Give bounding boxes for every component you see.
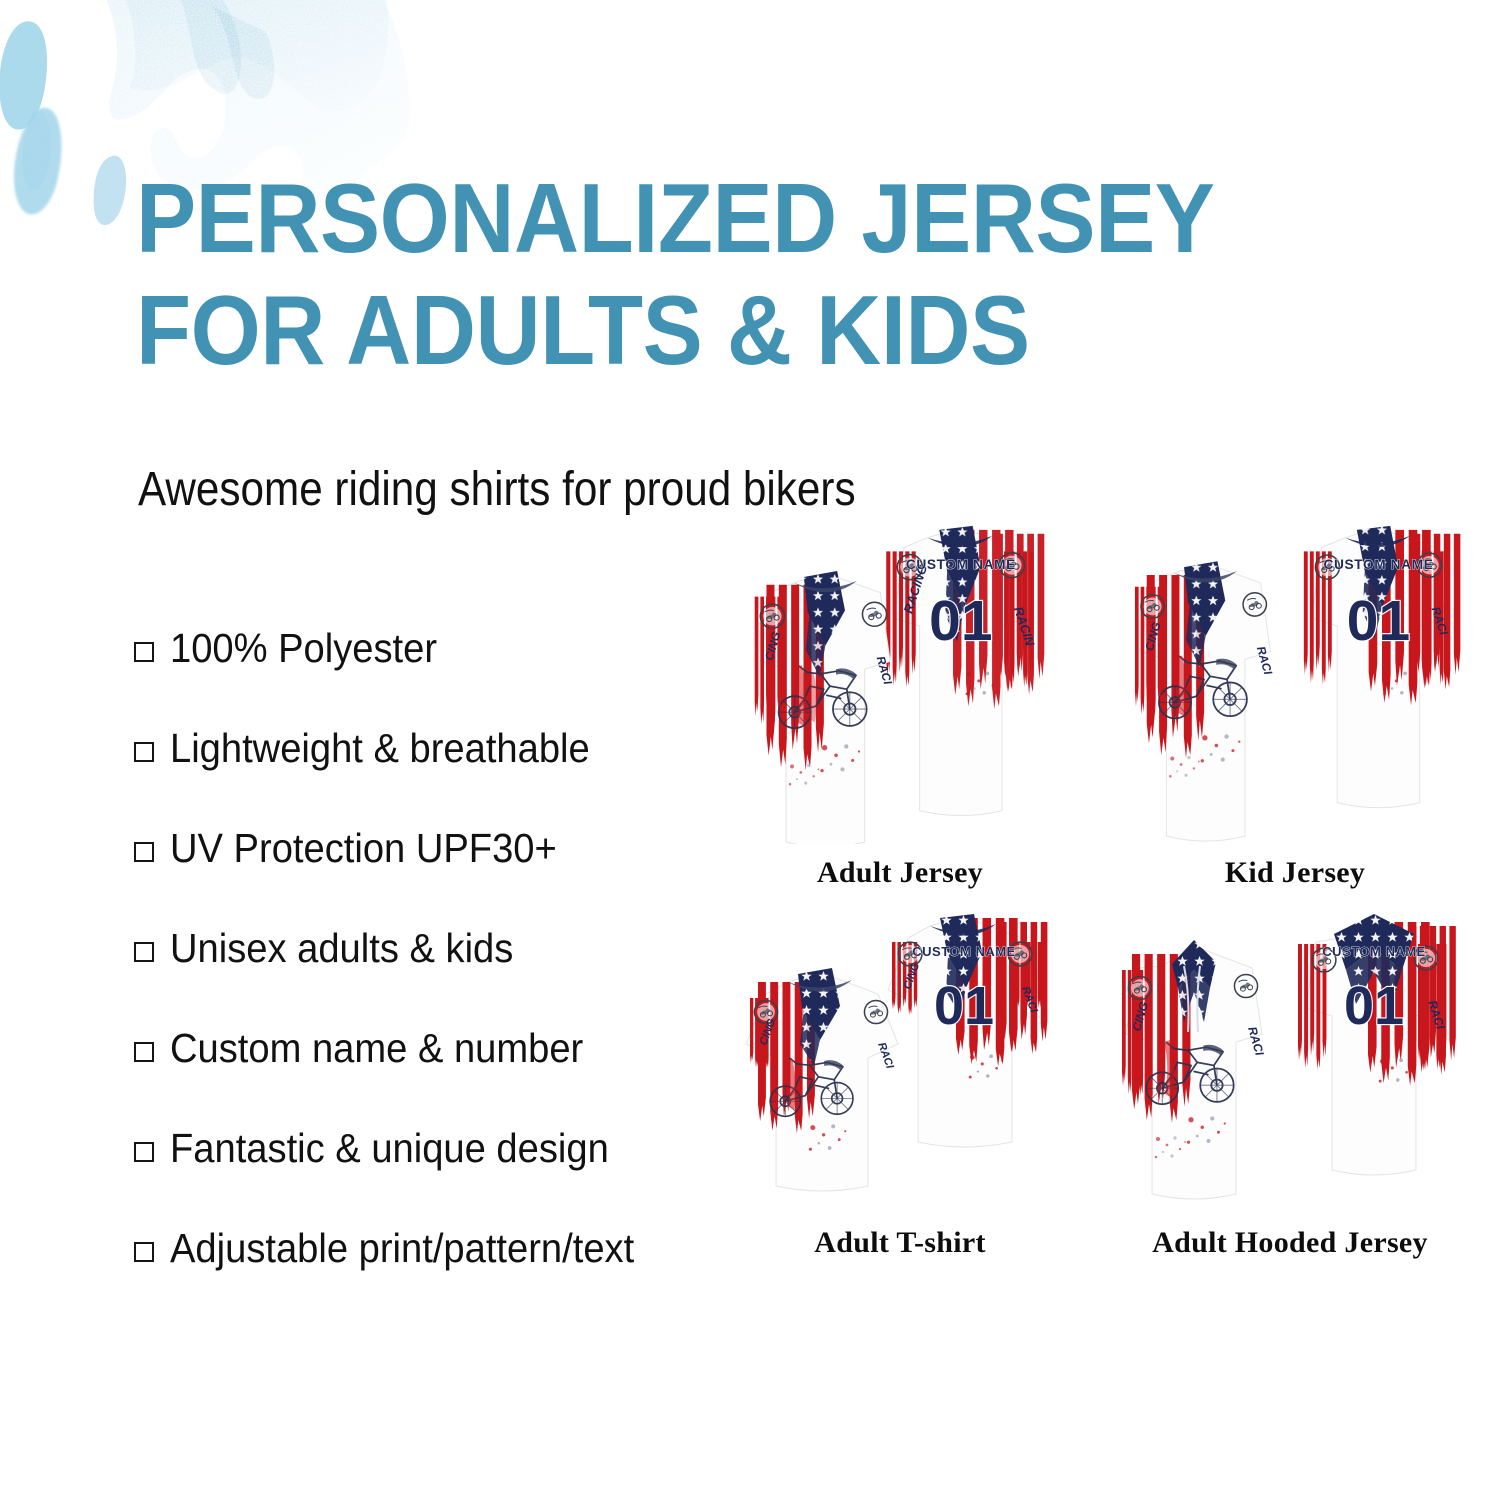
product-image-adult-hooded-jersey: RACI CUSTOM NAME 01 (1090, 910, 1490, 1214)
checkbox-square-icon (134, 642, 154, 662)
svg-text:RACI: RACI (1245, 1025, 1267, 1058)
product-label: Kid Jersey (1100, 856, 1490, 890)
product-label: Adult Jersey (720, 856, 1080, 890)
list-item: Adjustable print/pattern/text (134, 1228, 774, 1328)
feature-list: 100% Polyester Lightweight & breathable … (134, 628, 774, 1328)
feature-label: Fantastic & unique design (170, 1128, 609, 1169)
product-image-adult-jersey: RACING RACIN CUSTOM NAME 01 (720, 520, 1080, 844)
svg-text:CUSTOM NAME: CUSTOM NAME (1322, 944, 1425, 959)
list-item: Fantastic & unique design (134, 1128, 774, 1228)
svg-text:CUSTOM NAME: CUSTOM NAME (912, 944, 1015, 959)
svg-text:RACI: RACI (1254, 645, 1275, 677)
product-showcase: RACING RACIN CUSTOM NAME 01 (700, 520, 1490, 1280)
feature-label: 100% Polyester (170, 628, 437, 669)
product-label: Adult Hooded Jersey (1090, 1226, 1490, 1260)
feature-label: Adjustable print/pattern/text (170, 1228, 634, 1269)
feature-label: Unisex adults & kids (170, 928, 513, 969)
svg-text:RACI: RACI (874, 655, 895, 687)
product-card-adult-tshirt[interactable]: CING RACI CUSTOM NAME 01 (720, 910, 1080, 1260)
checkbox-square-icon (134, 1242, 154, 1262)
product-label: Adult T-shirt (720, 1226, 1080, 1260)
svg-text:01: 01 (1347, 589, 1410, 653)
svg-text:01: 01 (1344, 976, 1404, 1036)
page-subtitle: Awesome riding shirts for proud bikers (138, 462, 856, 517)
list-item: Lightweight & breathable (134, 728, 774, 828)
svg-text:CUSTOM NAME: CUSTOM NAME (906, 557, 1016, 572)
list-item: Custom name & number (134, 1028, 774, 1128)
product-image-adult-tshirt: CING RACI CUSTOM NAME 01 (720, 910, 1080, 1214)
checkbox-square-icon (134, 842, 154, 862)
feature-label: UV Protection UPF30+ (170, 828, 557, 869)
product-card-kid-jersey[interactable]: RACI CUSTOM NAME 01 (1100, 520, 1490, 890)
checkbox-square-icon (134, 1042, 154, 1062)
feature-label: Custom name & number (170, 1028, 583, 1069)
product-image-kid-jersey: RACI CUSTOM NAME 01 (1100, 520, 1490, 844)
list-item: UV Protection UPF30+ (134, 828, 774, 928)
product-card-adult-hooded-jersey[interactable]: RACI CUSTOM NAME 01 (1090, 910, 1490, 1260)
page-title: PERSONALIZED JERSEY FOR ADULTS & KIDS (136, 163, 1222, 386)
checkbox-square-icon (134, 942, 154, 962)
list-item: Unisex adults & kids (134, 928, 774, 1028)
poster-canvas: PERSONALIZED JERSEY FOR ADULTS & KIDS Aw… (0, 0, 1500, 1500)
svg-text:01: 01 (934, 976, 994, 1036)
svg-text:RACIN: RACIN (1011, 605, 1038, 649)
checkbox-square-icon (134, 1142, 154, 1162)
checkbox-square-icon (134, 742, 154, 762)
list-item: 100% Polyester (134, 628, 774, 728)
product-card-adult-jersey[interactable]: RACING RACIN CUSTOM NAME 01 (720, 520, 1080, 890)
feature-label: Lightweight & breathable (170, 728, 590, 769)
svg-text:01: 01 (929, 589, 992, 653)
svg-text:CUSTOM NAME: CUSTOM NAME (1323, 557, 1433, 572)
